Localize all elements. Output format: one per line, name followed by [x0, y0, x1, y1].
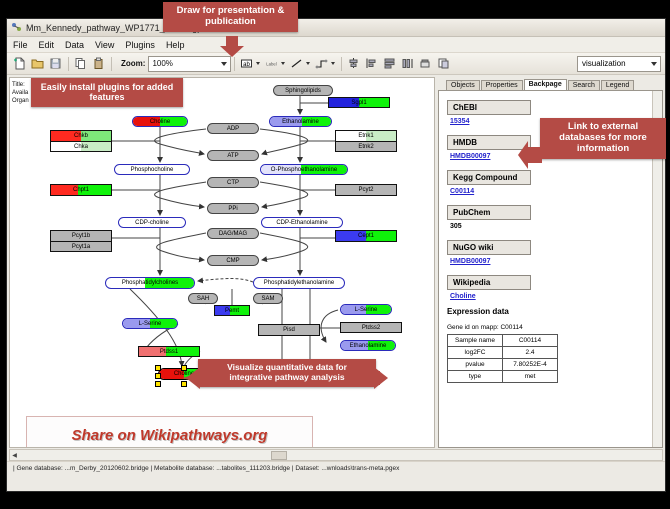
db-header-pubchem: PubChem — [447, 205, 531, 220]
node-label: CDP-choline — [135, 220, 169, 226]
cofactor-node[interactable]: SAM — [253, 293, 283, 304]
menu-data[interactable]: Data — [63, 39, 86, 51]
cell-key: log2FC — [448, 347, 503, 359]
metabolite-node-phosphatidylcholines: Phosphatidylcholines — [105, 277, 195, 289]
cofactor-node[interactable]: CTP — [207, 177, 259, 188]
chevron-down-icon — [651, 62, 657, 66]
node-label: Ethanolamine — [350, 343, 387, 349]
gene-node-cept1: Cept1 — [335, 230, 397, 242]
chevron-down-icon — [221, 62, 227, 66]
line-dropdown-icon[interactable] — [306, 62, 310, 65]
metabolite-node-choline: Choline — [132, 116, 188, 127]
node-label: Sphingolipids — [285, 88, 321, 94]
callout-plugins-text: Easily install plugins for added feature… — [31, 78, 183, 107]
node-label: Pcyt1b — [72, 233, 90, 239]
gene-node-chka: Chka — [50, 141, 112, 152]
title-bar: Mm_Kennedy_pathway_WP1771_45176.gpml — [7, 19, 665, 37]
paste-icon[interactable] — [90, 55, 107, 72]
same-size-icon[interactable] — [417, 55, 434, 72]
scroll-left-icon[interactable]: ◀ — [10, 451, 19, 459]
cell-value: 2.4 — [503, 347, 558, 359]
label-tool-dropdown-icon[interactable] — [281, 62, 285, 65]
label-tool-icon[interactable]: Label — [263, 55, 280, 72]
align-center-icon[interactable] — [345, 55, 362, 72]
cell-value: met — [503, 371, 558, 383]
menu-view[interactable]: View — [93, 39, 116, 51]
db-link-wikipedia[interactable]: Choline — [450, 293, 662, 300]
node-label: CDP-Ethanolamine — [276, 220, 327, 226]
callout-extdb-arrow — [518, 140, 542, 170]
menu-plugins[interactable]: Plugins — [123, 39, 157, 51]
expression-data-heading: Expression data — [447, 307, 662, 316]
tab-legend[interactable]: Legend — [601, 80, 634, 90]
copy-icon[interactable] — [72, 55, 89, 72]
db-header-chebi: ChEBI — [447, 100, 531, 115]
node-label: Etnk1 — [358, 133, 373, 139]
toolbar: Zoom: 100% ab Label — [7, 53, 665, 75]
callout-extdb-text: Link to external databases for more info… — [540, 118, 666, 159]
db-link-nugowiki[interactable]: HMDB00097 — [450, 258, 662, 265]
toolbar-separator-2 — [111, 57, 112, 71]
metabolite-node-ethanolamine-right: Ethanolamine — [340, 340, 396, 351]
selection-handle[interactable] — [155, 381, 161, 387]
gene-node-chpt1: Chpt1 — [50, 184, 112, 196]
node-label: L-Serine — [139, 321, 162, 327]
node-label: Pemt — [225, 308, 239, 314]
table-row: pvalue 7.80252E-4 — [448, 359, 558, 371]
node-label: Ptdss2 — [362, 325, 380, 331]
db-header-kegg: Kegg Compound — [447, 170, 531, 185]
metabolite-node-l-serine-left: L-Serine — [122, 318, 178, 329]
node-label: Chpt1 — [73, 187, 89, 193]
cofactor-node[interactable]: ATP — [207, 150, 259, 161]
callout-visualize-arrow-left — [180, 361, 200, 395]
callout-visualize-text: Visualize quantitative data for integrat… — [198, 359, 376, 387]
zoom-value: 100% — [152, 59, 172, 68]
bring-front-icon[interactable] — [435, 55, 452, 72]
metabolite-node-o-phosphoethanolamine: O-Phosphoethanolamine — [260, 164, 348, 175]
cell-key: Sample name — [448, 335, 503, 347]
callout-draw-text: Draw for presentation & publication — [163, 2, 298, 32]
callout-visualize: Visualize quantitative data for integrat… — [198, 359, 376, 387]
db-header-wikipedia: Wikipedia — [447, 275, 531, 290]
expression-table: Sample name C00114 log2FC 2.4 pvalue 7.8… — [447, 334, 558, 383]
menu-bar: File Edit Data View Plugins Help — [7, 37, 665, 53]
node-label: Chkb — [74, 133, 88, 139]
right-panel-tabs: Objects Properties Backpage Search Legen… — [438, 77, 663, 91]
tab-properties[interactable]: Properties — [481, 80, 523, 90]
cofactor-node[interactable]: PPi — [207, 203, 259, 214]
node-label: L-Serine — [355, 307, 378, 313]
metabolite-node-ethanolamine: Ethanolamine — [269, 116, 332, 127]
callout-share: Share on Wikipathways.org — [26, 416, 313, 448]
gene-node-pisd: Pisd — [258, 324, 320, 336]
cofactor-node[interactable]: CMP — [207, 255, 259, 266]
table-row: log2FC 2.4 — [448, 347, 558, 359]
cell-key: type — [448, 371, 503, 383]
status-text: | Gene database: ...m_Derby_20120602.bri… — [13, 465, 399, 472]
open-folder-icon[interactable] — [29, 55, 46, 72]
callout-visualize-arrow-right — [374, 361, 396, 395]
metabolite-node-cdp-choline: CDP-choline — [118, 217, 186, 228]
new-file-icon[interactable] — [11, 55, 28, 72]
node-label: Etnk2 — [358, 144, 373, 150]
metabolite-node-phosphatidylethanolamine: Phosphatidylethanolamine — [253, 277, 345, 289]
node-label: Cept1 — [358, 233, 374, 239]
node-label: Chka — [74, 144, 88, 150]
gene-node-etnk2: Etnk2 — [335, 141, 397, 152]
gene-node-pcyt1b: Pcyt1b — [50, 230, 112, 241]
toolbar-separator-4 — [341, 57, 342, 71]
gene-node-ptdss1: Ptdss1 — [138, 346, 200, 357]
same-width-icon[interactable] — [399, 55, 416, 72]
gene-node-chkb: Chkb — [50, 130, 112, 141]
pathvisio-app-icon — [11, 22, 22, 33]
scroll-thumb[interactable] — [271, 451, 287, 460]
distribute-icon[interactable] — [381, 55, 398, 72]
selection-handle[interactable] — [155, 373, 161, 379]
node-label: Phosphocholine — [131, 167, 174, 173]
gene-node-pcyt1a: Pcyt1a — [50, 241, 112, 252]
node-label: Ptdss1 — [160, 349, 178, 355]
visualization-value: visualization — [582, 59, 626, 68]
toolbar-separator-1 — [68, 57, 69, 71]
metabolite-node-phosphocholine: Phosphocholine — [114, 164, 190, 175]
db-link-kegg[interactable]: C00114 — [450, 188, 662, 195]
menu-help[interactable]: Help — [164, 39, 187, 51]
gene-node-pemt: Pemt — [214, 305, 250, 316]
callout-extdb: Link to external databases for more info… — [540, 118, 666, 159]
table-row: type met — [448, 371, 558, 383]
table-row: Sample name C00114 — [448, 335, 558, 347]
cofactor-node[interactable]: ADP — [207, 123, 259, 134]
callout-plugins: Easily install plugins for added feature… — [31, 78, 183, 107]
node-label: O-Phosphoethanolamine — [271, 167, 337, 173]
gene-node-etnk1: Etnk1 — [335, 130, 397, 141]
node-label: Ethanolamine — [282, 119, 319, 125]
connector-icon[interactable] — [313, 55, 330, 72]
tab-objects[interactable]: Objects — [446, 80, 480, 90]
line-icon[interactable] — [288, 55, 305, 72]
callout-share-text: Share on Wikipathways.org — [72, 427, 268, 444]
db-value-pubchem: 305 — [450, 223, 662, 230]
node-label: Pcyt2 — [358, 187, 373, 193]
align-left-icon[interactable] — [363, 55, 380, 72]
gene-id-on-mapp: Gene id on mapp: C00114 — [447, 324, 662, 331]
svg-text:ab: ab — [244, 62, 251, 68]
gene-node-sgpl1: Sgpl1 — [328, 97, 390, 108]
cofactor-node[interactable]: DAG/MAG — [207, 228, 259, 239]
cofactor-node[interactable]: SAH — [188, 293, 218, 304]
menu-edit[interactable]: Edit — [37, 39, 57, 51]
cell-value: C00114 — [503, 335, 558, 347]
menu-file[interactable]: File — [11, 39, 30, 51]
node-label: Phosphatidylcholines — [122, 280, 178, 286]
tab-search[interactable]: Search — [568, 80, 600, 90]
connector-dropdown-icon[interactable] — [331, 62, 335, 65]
node-label: Pcyt1a — [72, 244, 90, 250]
label-dropdown-icon[interactable] — [256, 62, 260, 65]
svg-text:Label: Label — [267, 61, 277, 66]
metabolite-node-l-serine-right: L-Serine — [340, 304, 392, 315]
selection-handle[interactable] — [155, 365, 161, 371]
cell-value: 7.80252E-4 — [503, 359, 558, 371]
gene-node-ptdss2: Ptdss2 — [340, 322, 402, 333]
zoom-label: Zoom: — [121, 59, 145, 68]
callout-draw-arrow — [218, 36, 246, 58]
node-label: Pisd — [283, 327, 295, 333]
metabolite-node-cdp-ethanolamine: CDP-Ethanolamine — [261, 217, 343, 228]
toolbar-separator-3 — [234, 57, 235, 71]
node-label: Sgpl1 — [351, 100, 366, 106]
save-icon[interactable] — [47, 55, 64, 72]
cell-key: pvalue — [448, 359, 503, 371]
metabolite-node-sphingolipids: Sphingolipids — [273, 85, 333, 96]
visualization-combobox[interactable]: visualization — [577, 56, 661, 72]
canvas-hscrollbar[interactable]: ◀ — [9, 449, 663, 461]
gene-node-pcyt2: Pcyt2 — [335, 184, 397, 196]
node-label: Phosphatidylethanolamine — [264, 280, 334, 286]
pathvisio-window: Mm_Kennedy_pathway_WP1771_45176.gpml Fil… — [6, 18, 666, 492]
pathway-canvas[interactable]: Title: Availa Organ — [9, 77, 435, 448]
tab-backpage[interactable]: Backpage — [524, 79, 567, 90]
db-header-nugowiki: NuGO wiki — [447, 240, 531, 255]
callout-draw: Draw for presentation & publication — [163, 2, 298, 32]
status-bar: | Gene database: ...m_Derby_20120602.bri… — [7, 461, 665, 475]
node-label: Choline — [150, 119, 170, 125]
